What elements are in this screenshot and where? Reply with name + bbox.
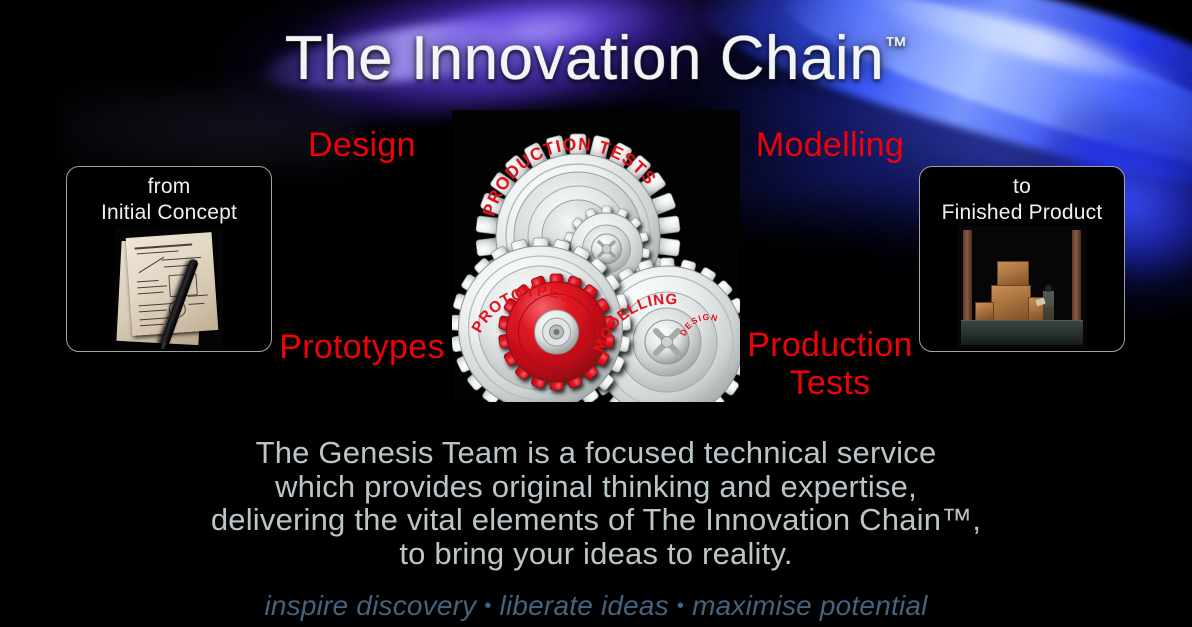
- body-copy-line-3: delivering the vital elements of The Inn…: [0, 503, 1192, 537]
- stage-label-production-tests-line1: Production: [732, 326, 928, 364]
- panel-finished-product-caption: to Finished Product: [920, 174, 1124, 226]
- body-copy-line-4: to bring your ideas to reality.: [0, 537, 1192, 571]
- body-copy-line-2: which provides original thinking and exp…: [0, 470, 1192, 504]
- tagline-item-1: inspire discovery: [264, 590, 476, 621]
- body-copy: The Genesis Team is a focused technical …: [0, 436, 1192, 570]
- panel-finished-product-caption-line1: to: [920, 174, 1124, 200]
- panel-initial-concept-caption: from Initial Concept: [67, 174, 271, 226]
- worker-body: [1043, 291, 1054, 321]
- tagline-item-3: maximise potential: [692, 590, 927, 621]
- crate-left: [975, 302, 994, 321]
- panel-initial-concept: from Initial Concept: [66, 166, 272, 352]
- finished-product-crates-photo: [957, 226, 1087, 349]
- stage-label-prototypes: Prototypes: [264, 328, 460, 366]
- panel-initial-concept-caption-line2: Initial Concept: [67, 200, 271, 226]
- stage-label-modelling: Modelling: [732, 126, 928, 164]
- tagline-item-2: liberate ideas: [500, 590, 669, 621]
- stage-label-production-tests: Production Tests: [732, 326, 928, 402]
- tagline-separator-1: •: [484, 595, 491, 617]
- stage-label-design: Design: [264, 126, 460, 164]
- tagline-secondary-clipped: [0, 620, 1192, 627]
- stage-label-production-tests-line2: Tests: [732, 364, 928, 402]
- worker-head: [1045, 285, 1052, 292]
- panel-initial-concept-caption-line1: from: [67, 174, 271, 200]
- crate-top: [997, 261, 1029, 288]
- body-copy-line-1: The Genesis Team is a focused technical …: [0, 436, 1192, 470]
- page-title: The Innovation Chain™: [0, 6, 1192, 98]
- crate-mid: [991, 285, 1031, 321]
- tagline-separator-2: •: [677, 595, 684, 617]
- innovation-chain-slide: The Innovation Chain™ Design Modelling P…: [0, 0, 1192, 627]
- panel-finished-product-caption-line2: Finished Product: [920, 200, 1124, 226]
- panel-finished-product: to Finished Product: [919, 166, 1125, 352]
- innovation-chain-gears: PRODUCTION TESTS PROTOYPES MODELLING DES…: [452, 110, 740, 402]
- trademark-symbol: ™: [884, 32, 907, 58]
- initial-concept-sketch-photo: [115, 229, 223, 349]
- page-title-text: The Innovation Chain: [285, 24, 884, 93]
- loading-platform: [961, 320, 1083, 345]
- tagline: inspire discovery • liberate ideas • max…: [0, 590, 1192, 622]
